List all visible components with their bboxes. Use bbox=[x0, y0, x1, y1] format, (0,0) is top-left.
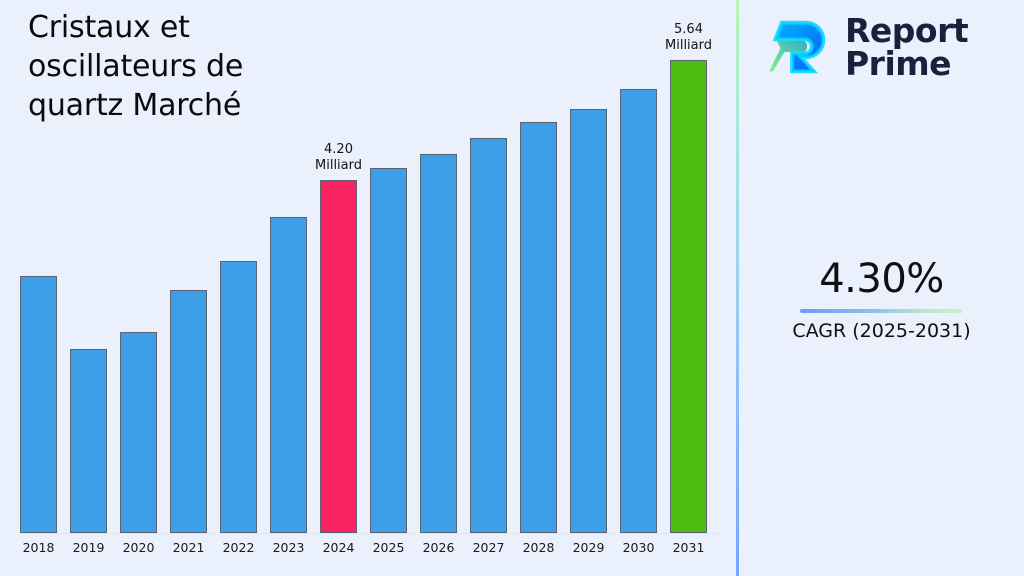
brand-logo: Report Prime bbox=[769, 14, 968, 80]
cagr-divider-rule bbox=[800, 309, 963, 313]
bar-2018 bbox=[20, 276, 57, 533]
bar-2026 bbox=[420, 154, 457, 533]
x-axis-tick-2023: 2023 bbox=[264, 540, 314, 556]
x-axis-tick-2027: 2027 bbox=[464, 540, 514, 556]
x-axis-tick-2018: 2018 bbox=[14, 540, 64, 556]
x-axis-tick-2031: 2031 bbox=[664, 540, 714, 556]
cagr-block: 4.30% CAGR (2025-2031) bbox=[739, 255, 1024, 343]
bar-2025 bbox=[370, 168, 407, 533]
x-axis-tick-2022: 2022 bbox=[214, 540, 264, 556]
bar-2027 bbox=[470, 138, 507, 533]
bar-2023 bbox=[270, 217, 307, 533]
bar-2024 bbox=[320, 180, 357, 533]
x-axis-tick-2026: 2026 bbox=[414, 540, 464, 556]
x-axis-tick-2020: 2020 bbox=[114, 540, 164, 556]
report-prime-logo-icon bbox=[769, 15, 833, 79]
bar-2019 bbox=[70, 349, 107, 533]
brand-name: Report Prime bbox=[845, 14, 968, 80]
x-axis-baseline bbox=[12, 533, 724, 534]
bar-2030 bbox=[620, 89, 657, 533]
x-axis-tick-2029: 2029 bbox=[564, 540, 614, 556]
bar-2031 bbox=[670, 60, 707, 533]
bar-2022 bbox=[220, 261, 257, 533]
bar-2029 bbox=[570, 109, 607, 533]
chart-screenshot: Cristaux et oscillateurs de quartz March… bbox=[0, 0, 1024, 576]
x-axis-tick-2025: 2025 bbox=[364, 540, 414, 556]
cagr-value: 4.30% bbox=[739, 255, 1024, 303]
side-panel: Report Prime 4.30% CAGR (2025-2031) bbox=[739, 0, 1024, 576]
chart-panel: Cristaux et oscillateurs de quartz March… bbox=[0, 0, 737, 576]
bar-2020 bbox=[120, 332, 157, 533]
x-axis-tick-2028: 2028 bbox=[514, 540, 564, 556]
x-axis-tick-2030: 2030 bbox=[614, 540, 664, 556]
bar-2021 bbox=[170, 290, 207, 533]
x-axis-tick-2019: 2019 bbox=[64, 540, 114, 556]
bar-2028 bbox=[520, 122, 557, 533]
x-axis-tick-2024: 2024 bbox=[314, 540, 364, 556]
bar-chart-plot: 2018201920202021202220234.20 Milliard202… bbox=[0, 0, 737, 576]
bar-value-label-2031: 5.64 Milliard bbox=[639, 22, 739, 54]
cagr-caption: CAGR (2025-2031) bbox=[739, 319, 1024, 343]
x-axis-tick-2021: 2021 bbox=[164, 540, 214, 556]
